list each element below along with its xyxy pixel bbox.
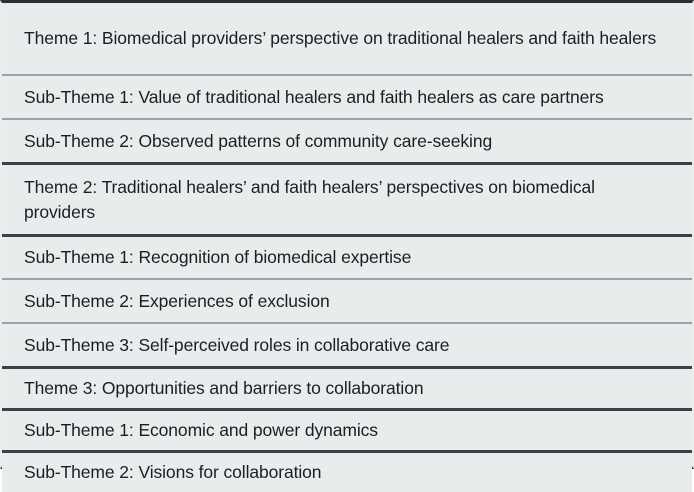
- table-row: Theme 3: Opportunities and barriers to c…: [2, 366, 692, 408]
- table-row-label: Theme 1: Biomedical providers’ perspecti…: [24, 26, 656, 51]
- table-row-label: Sub-Theme 1: Value of traditional healer…: [24, 85, 604, 110]
- table-row-label: Sub-Theme 2: Visions for collaboration: [24, 460, 321, 485]
- table-row-label: Sub-Theme 2: Observed patterns of commun…: [24, 129, 492, 154]
- table-row: Sub-Theme 2: Observed patterns of commun…: [2, 118, 692, 162]
- table-row: Sub-Theme 1: Value of traditional healer…: [2, 74, 692, 118]
- table-row: Sub-Theme 2: Experiences of exclusion: [2, 278, 692, 322]
- table-row-label: Sub-Theme 2: Experiences of exclusion: [24, 289, 330, 314]
- table-row: Sub-Theme 1: Economic and power dynamics: [2, 408, 692, 450]
- table-row: Sub-Theme 1: Recognition of biomedical e…: [2, 234, 692, 278]
- table-row: Sub-Theme 2: Visions for collaboration: [2, 450, 692, 492]
- table-row-label: Sub-Theme 3: Self-perceived roles in col…: [24, 333, 449, 358]
- table-row-label: Theme 3: Opportunities and barriers to c…: [24, 376, 423, 401]
- table-row-label: Sub-Theme 1: Recognition of biomedical e…: [24, 245, 411, 270]
- table-row: Theme 1: Biomedical providers’ perspecti…: [2, 3, 692, 74]
- table-row: Sub-Theme 3: Self-perceived roles in col…: [2, 322, 692, 366]
- themes-table: Theme 1: Biomedical providers’ perspecti…: [0, 0, 694, 469]
- table-row-label: Theme 2: Traditional healers’ and faith …: [24, 175, 664, 225]
- table-row-label: Sub-Theme 1: Economic and power dynamics: [24, 418, 378, 443]
- table-row: Theme 2: Traditional healers’ and faith …: [2, 162, 692, 234]
